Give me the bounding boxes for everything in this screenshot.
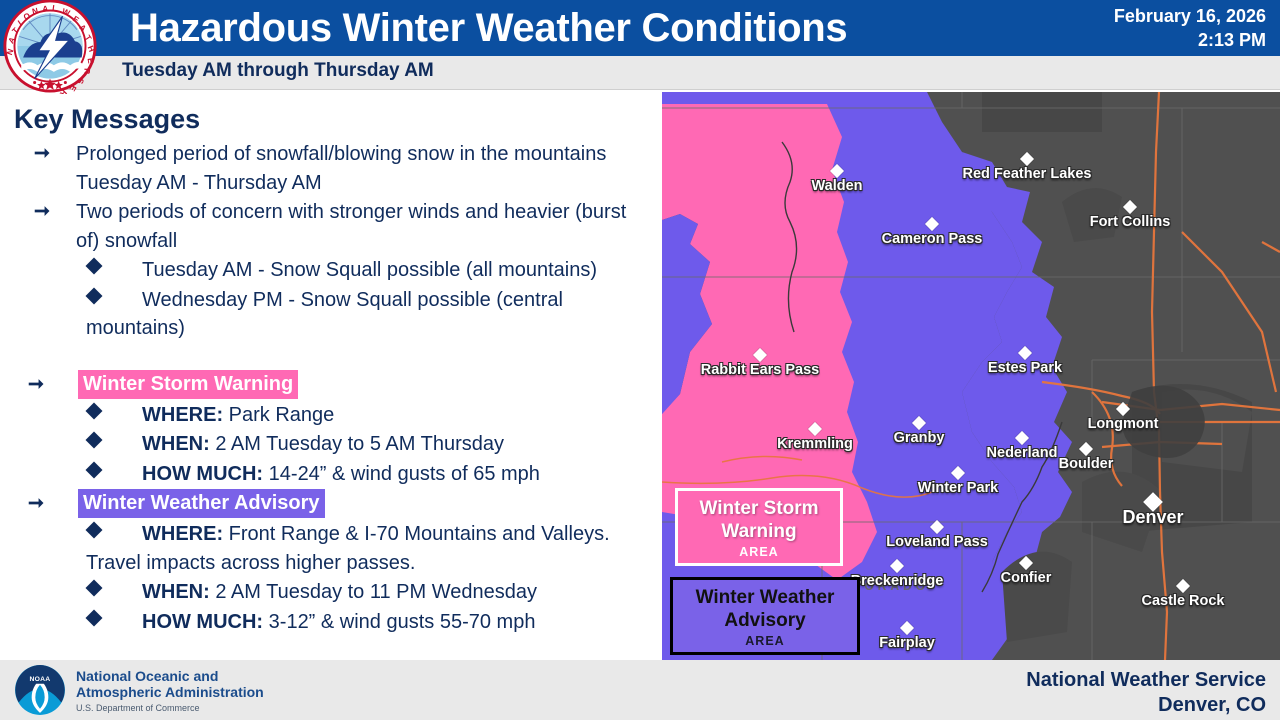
header-time: 2:13 PM [1114, 28, 1266, 52]
key-messages-heading: Key Messages [14, 104, 200, 135]
key-message-text: Prolonged period of snowfall/blowing sno… [76, 140, 636, 197]
advisory-detail-row: HOW MUCH: 3-12” & wind gusts 55-70 mph [0, 608, 662, 637]
footer-bar: NOAA National Oceanic and Atmospheric Ad… [0, 660, 1280, 720]
hazard-area-map[interactable]: COLORADO Walden Red Feather Lakes Camero… [662, 92, 1280, 660]
spacer [0, 344, 662, 370]
city-label: Loveland Pass [886, 534, 988, 550]
diamond-bullet-icon [86, 580, 103, 597]
legend-title-line1: Winter Storm [678, 497, 840, 520]
advisory-detail-value: 2 AM Tuesday to 11 PM Wednesday [215, 581, 537, 603]
office-name: National Weather Service [1026, 668, 1266, 693]
advisory-detail-label: WHERE: [142, 523, 223, 545]
city-label: Denver [1122, 507, 1183, 528]
advisory-detail-label: WHEN: [142, 581, 210, 603]
city-label: Kremmling [777, 436, 853, 452]
map-legend-winter-storm-warning: Winter Storm Warning AREA [675, 488, 843, 566]
diamond-bullet-icon [86, 461, 103, 478]
key-message-sub-text: Tuesday AM - Snow Squall possible (all m… [142, 259, 597, 281]
city-label: Walden [811, 178, 862, 194]
city-label: Breckenridge [851, 573, 944, 589]
advisory-detail-label: HOW MUCH: [142, 611, 263, 633]
city-label: Castle Rock [1141, 593, 1224, 609]
legend-title: Winter Storm Warning [678, 491, 840, 543]
warning-detail-row: WHERE: Park Range [0, 401, 662, 430]
advisory-detail-text: WHEN: 2 AM Tuesday to 11 PM Wednesday [142, 581, 537, 603]
noaa-branding: NOAA National Oceanic and Atmospheric Ad… [14, 664, 264, 716]
diamond-bullet-icon [86, 432, 103, 449]
svg-text:R: R [82, 68, 91, 74]
winter-storm-warning-row: ➞ Winter Storm Warning [0, 370, 662, 399]
national-weather-service-seal-icon: N A T I O N A L W E A T H E R S E R [2, 0, 98, 94]
warning-detail-label: WHERE: [142, 404, 223, 426]
warning-detail-row: WHEN: 2 AM Tuesday to 5 AM Thursday [0, 430, 662, 459]
city-label: Longmont [1088, 416, 1159, 432]
winter-storm-warning-badge: Winter Storm Warning [78, 370, 298, 399]
header-datetime: February 16, 2026 2:13 PM [1114, 4, 1266, 52]
key-message-item: ➞ Two periods of concern with stronger w… [0, 198, 662, 255]
key-message-sub-text: Wednesday PM - Snow Squall possible (cen… [86, 289, 563, 340]
office-location: Denver, CO [1026, 693, 1266, 718]
warning-detail-text: WHEN: 2 AM Tuesday to 5 AM Thursday [142, 433, 504, 455]
advisory-detail-value: 3-12” & wind gusts 55-70 mph [269, 611, 536, 633]
diamond-bullet-icon [86, 522, 103, 539]
key-messages-panel: Key Messages ➞ Prolonged period of snowf… [0, 92, 662, 660]
key-message-sub-item: Wednesday PM - Snow Squall possible (cen… [0, 286, 662, 343]
legend-title-line2: Advisory [673, 609, 857, 632]
key-message-text: Two periods of concern with stronger win… [76, 198, 636, 255]
warning-detail-value: Park Range [229, 404, 335, 426]
city-label: Rabbit Ears Pass [701, 362, 819, 378]
warning-detail-text: HOW MUCH: 14-24” & wind gusts of 65 mph [142, 463, 540, 485]
advisory-detail-text: WHERE: Front Range & I-70 Mountains and … [86, 523, 610, 574]
noaa-line-1: National Oceanic and [76, 668, 264, 684]
city-label: Estes Park [988, 360, 1062, 376]
noaa-text-block: National Oceanic and Atmospheric Adminis… [76, 668, 264, 713]
map-legend-winter-weather-advisory: Winter Weather Advisory AREA [670, 577, 860, 655]
issuing-office: National Weather Service Denver, CO [1026, 668, 1266, 718]
svg-text:A: A [42, 4, 48, 13]
key-message-sub-item: Tuesday AM - Snow Squall possible (all m… [0, 256, 662, 285]
winter-weather-advisory-badge: Winter Weather Advisory [78, 489, 325, 518]
city-label: Cameron Pass [882, 231, 983, 247]
page-title: Hazardous Winter Weather Conditions [130, 2, 847, 54]
city-label: Winter Park [918, 480, 998, 496]
arrow-bullet-icon: ➞ [28, 489, 44, 519]
warning-detail-value: 14-24” & wind gusts of 65 mph [269, 463, 540, 485]
weather-graphic-page: Hazardous Winter Weather Conditions Febr… [0, 0, 1280, 720]
advisory-detail-row: WHERE: Front Range & I-70 Mountains and … [0, 520, 662, 577]
city-label: Fairplay [879, 635, 935, 651]
svg-text:S: S [75, 77, 85, 85]
noaa-seal-icon: NOAA [14, 664, 66, 716]
legend-subtitle: AREA [678, 545, 840, 559]
noaa-line-3: U.S. Department of Commerce [76, 703, 264, 713]
header-date: February 16, 2026 [1114, 4, 1266, 28]
diamond-bullet-icon [86, 258, 103, 275]
valid-period-subtitle: Tuesday AM through Thursday AM [122, 60, 434, 82]
legend-title-line2: Warning [678, 520, 840, 543]
advisory-detail-text: HOW MUCH: 3-12” & wind gusts 55-70 mph [142, 611, 535, 633]
legend-subtitle: AREA [673, 634, 857, 648]
diamond-bullet-icon [86, 609, 103, 626]
key-messages-list: ➞ Prolonged period of snowfall/blowing s… [0, 140, 662, 637]
warning-detail-label: WHEN: [142, 433, 210, 455]
arrow-bullet-icon: ➞ [28, 370, 44, 400]
warning-detail-label: HOW MUCH: [142, 463, 263, 485]
arrow-bullet-icon: ➞ [34, 198, 50, 226]
svg-text:NOAA: NOAA [30, 676, 51, 683]
diamond-bullet-icon [86, 287, 103, 304]
arrow-bullet-icon: ➞ [34, 140, 50, 168]
noaa-line-2: Atmospheric Administration [76, 684, 264, 700]
city-label: Confier [1001, 570, 1052, 586]
city-label: Red Feather Lakes [963, 166, 1092, 182]
city-label: Boulder [1059, 456, 1114, 472]
warning-detail-row: HOW MUCH: 14-24” & wind gusts of 65 mph [0, 460, 662, 489]
city-label: Nederland [987, 445, 1058, 461]
warning-detail-value: 2 AM Tuesday to 5 AM Thursday [215, 433, 504, 455]
diamond-bullet-icon [86, 402, 103, 419]
city-label: Fort Collins [1090, 214, 1171, 230]
legend-title-line1: Winter Weather [673, 586, 857, 609]
legend-title: Winter Weather Advisory [673, 580, 857, 632]
city-label: Granby [894, 430, 945, 446]
warning-detail-text: WHERE: Park Range [142, 404, 334, 426]
winter-weather-advisory-row: ➞ Winter Weather Advisory [0, 489, 662, 518]
key-message-item: ➞ Prolonged period of snowfall/blowing s… [0, 140, 662, 197]
advisory-detail-row: WHEN: 2 AM Tuesday to 11 PM Wednesday [0, 578, 662, 607]
